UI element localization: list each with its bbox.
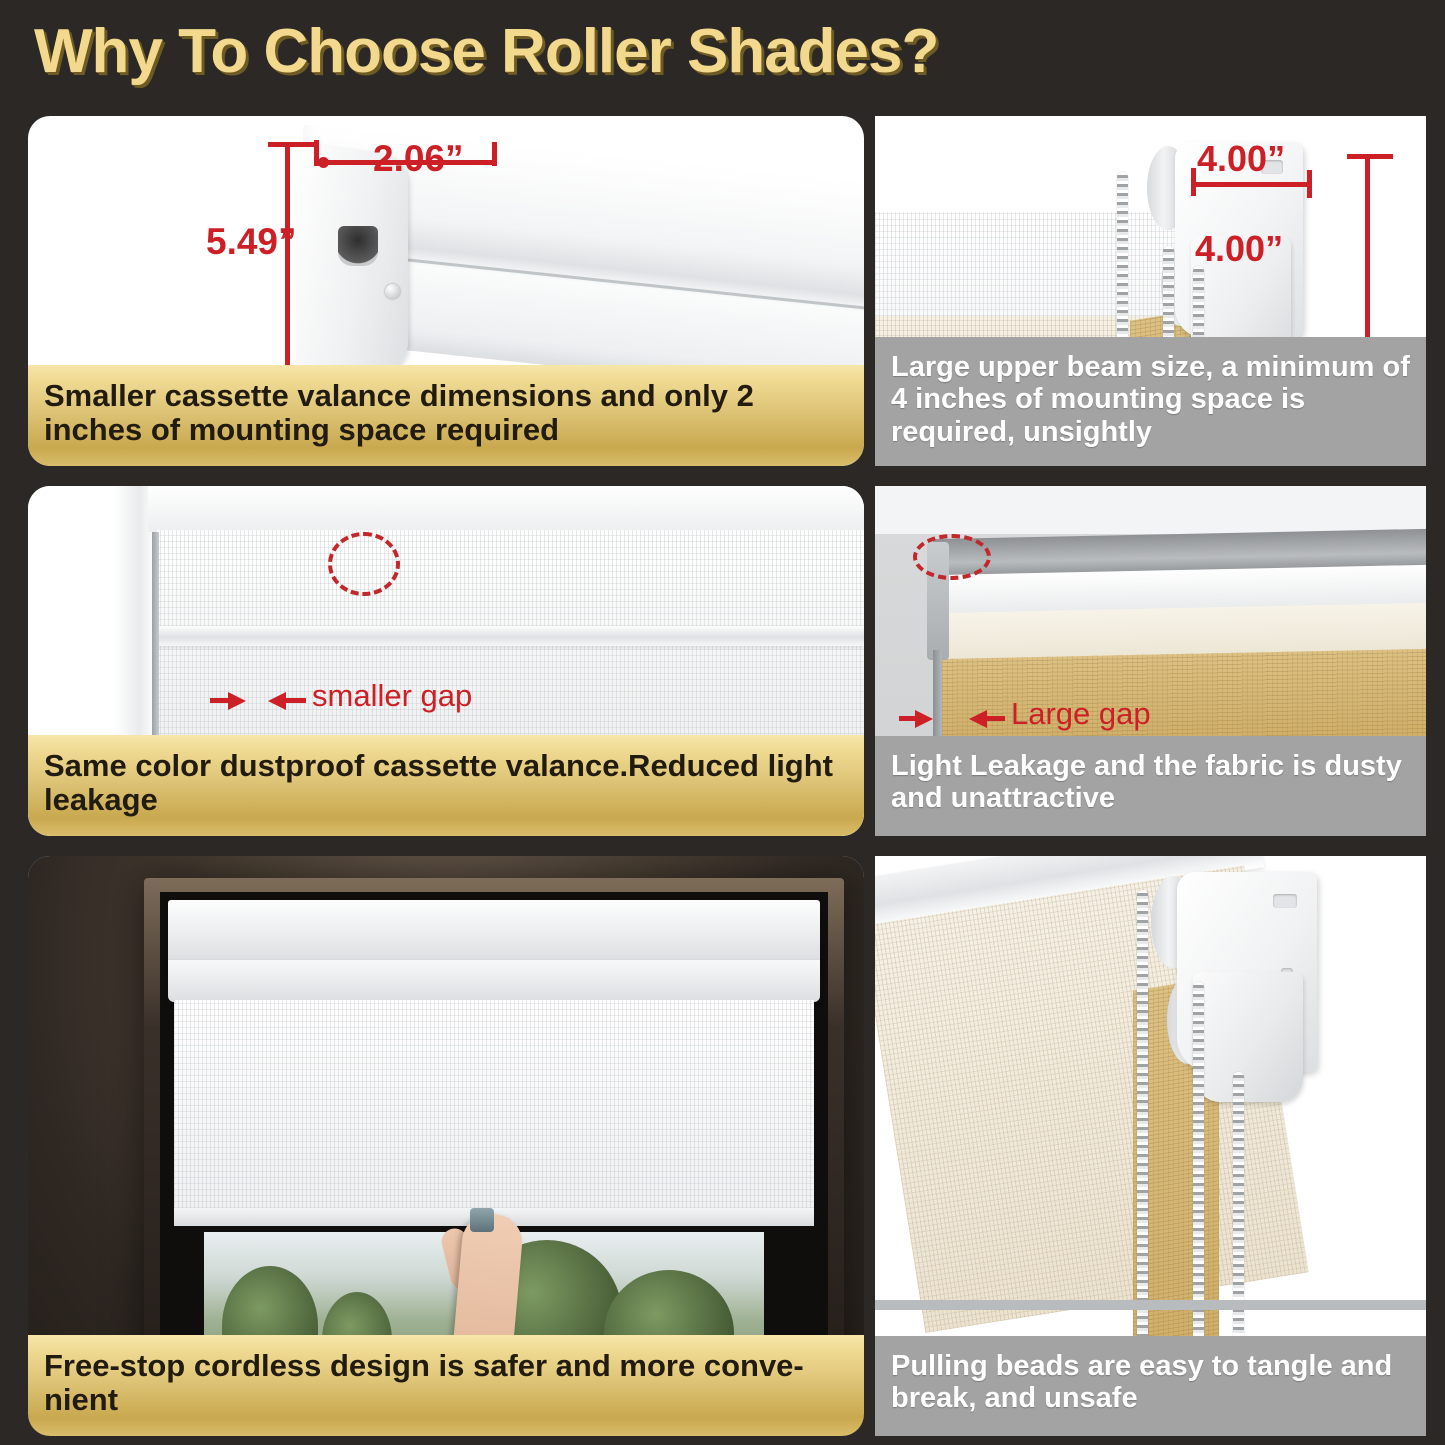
window-casing-top bbox=[148, 486, 864, 532]
bracket-slot-1 bbox=[1273, 894, 1297, 908]
caption-pro-dustproof-valance: Same color dustproof cassette valance.Re… bbox=[28, 735, 864, 836]
grip-handle bbox=[470, 1208, 494, 1232]
panel-pro-cordless-design: Free-stop cordless design is safer and m… bbox=[28, 856, 864, 1436]
panel-pro-cassette-size: 2.06” 5.49” Smaller cassette valance dim… bbox=[28, 116, 864, 466]
panel-con-pulling-beads: Pulling beads are easy to tangle and bre… bbox=[875, 856, 1426, 1436]
height-dimension-label: 5.49” bbox=[206, 221, 297, 263]
bead-chain-2 bbox=[1193, 982, 1204, 1350]
valance-rail bbox=[156, 626, 864, 646]
beam-width-line bbox=[1193, 182, 1311, 187]
highlight-ellipse-icon bbox=[913, 534, 991, 580]
panel-con-light-leakage: Large gap Light Leakage and the fabric i… bbox=[875, 486, 1426, 836]
screw-icon bbox=[385, 284, 400, 299]
gap-arrow-tail-2 bbox=[985, 716, 1005, 721]
valance-slot-icon bbox=[338, 226, 378, 266]
gap-arrow-tail bbox=[899, 716, 919, 721]
beam-height-tick-top bbox=[1347, 154, 1393, 159]
floor-line bbox=[875, 1300, 1426, 1310]
beam-width-tick-right bbox=[1307, 170, 1312, 198]
cassette-valance-front bbox=[168, 960, 820, 1002]
caption-con-light-leakage: Light Leakage and the fabric is dusty an… bbox=[875, 736, 1426, 836]
caption-con-upper-beam-size: Large upper beam size, a minimum of 4 in… bbox=[875, 337, 1426, 466]
highlight-ellipse-icon bbox=[328, 532, 400, 596]
width-dimension-label: 2.06” bbox=[373, 138, 464, 180]
ceiling-strip bbox=[875, 486, 1426, 534]
gap-callout-label: Large gap bbox=[1011, 696, 1151, 732]
gap-edge bbox=[933, 650, 942, 746]
gap-edge bbox=[152, 532, 159, 746]
gap-arrow-tail-2 bbox=[284, 698, 306, 703]
bead-chain-1 bbox=[1137, 890, 1148, 1350]
caption-pro-cassette-size: Smaller cassette valance dimensions and … bbox=[28, 365, 864, 466]
beam-width-tick-left bbox=[1191, 168, 1196, 196]
beam-width-label: 4.00” bbox=[1197, 138, 1285, 180]
beam-height-label: 4.00” bbox=[1195, 228, 1283, 270]
caption-pro-cordless-design: Free-stop cordless design is safer and m… bbox=[28, 1335, 864, 1436]
mounting-bracket-lower bbox=[1193, 972, 1303, 1102]
height-tick-top bbox=[268, 142, 316, 147]
panel-pro-dustproof-valance: smaller gap Same color dustproof cassett… bbox=[28, 486, 864, 836]
cassette-valance bbox=[168, 900, 820, 966]
shade-fabric bbox=[174, 1000, 814, 1214]
panel-con-upper-beam-size: 4.00” 4.00” Large upper beam size, a min… bbox=[875, 116, 1426, 466]
caption-con-pulling-beads: Pulling beads are easy to tangle and bre… bbox=[875, 1336, 1426, 1436]
gap-callout-label: smaller gap bbox=[312, 678, 472, 714]
width-tick-right bbox=[492, 142, 497, 166]
page-title: Why To Choose Roller Shades? bbox=[34, 16, 938, 87]
comparison-grid: 2.06” 5.49” Smaller cassette valance dim… bbox=[0, 108, 1445, 1445]
header-bar: Why To Choose Roller Shades? bbox=[0, 0, 1445, 108]
gap-arrow-tail bbox=[210, 698, 232, 703]
